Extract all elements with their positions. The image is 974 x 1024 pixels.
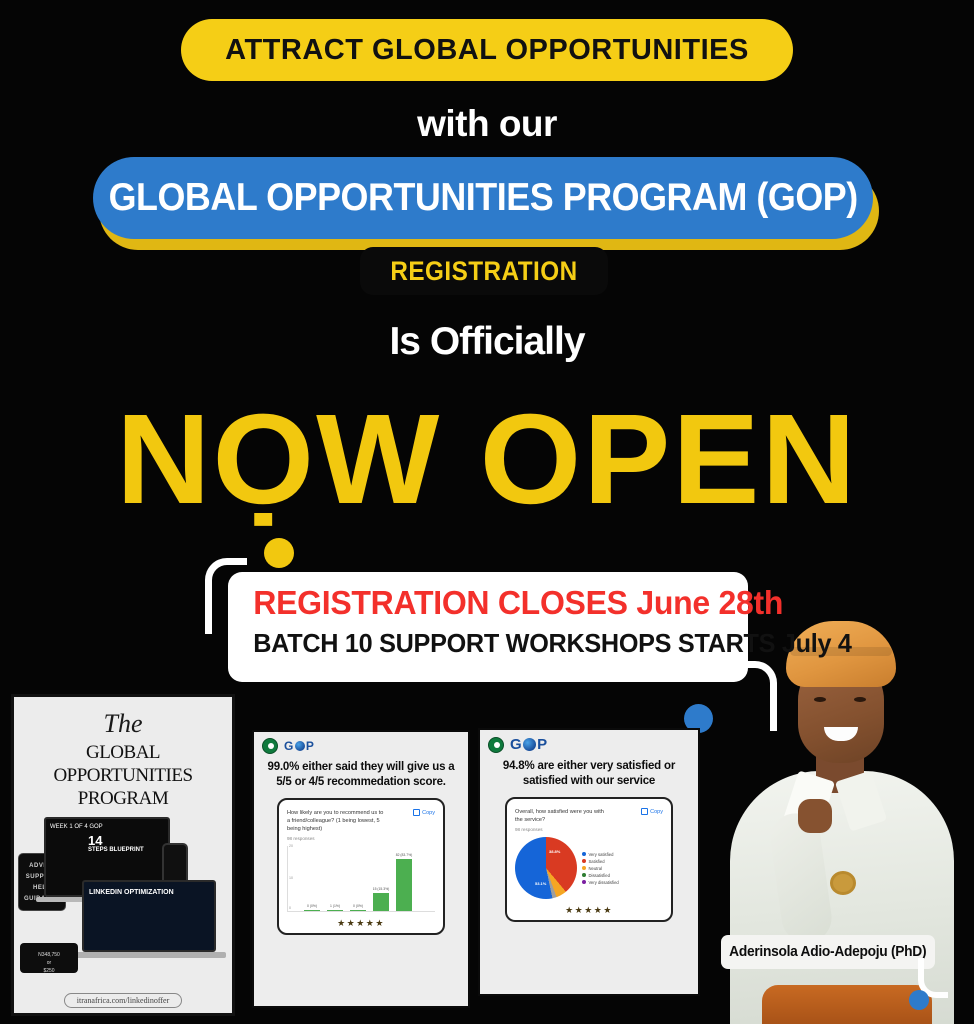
presenter-eye-right (854, 697, 866, 702)
bar-chart: 20 10 0 0 (0%) 1 (1%) 0 (0%) (287, 846, 435, 912)
testimonial-card-satisfaction: GP 94.8% are either very satisfied or sa… (478, 728, 700, 996)
globe-icon (295, 741, 305, 751)
headline-banner-attract: ATTRACT GLOBAL OPPORTUNITIES (181, 19, 793, 81)
subheadline-with-our: with our (0, 103, 974, 145)
bar-label-5: 82 (83.7%) (396, 853, 413, 857)
copy-icon (413, 809, 420, 816)
gop-logo-text: GP (284, 739, 314, 753)
bar-2: 1 (1%) (327, 910, 343, 911)
star-rating-left: ★★★★★ (285, 918, 437, 929)
presenter-name-badge: Aderinsola Adio-Adepoju (PhD) (721, 935, 935, 969)
legend-label-2: Neutral (589, 865, 603, 872)
survey-responses-left: 98 responses (287, 836, 435, 841)
bar-label-2: 1 (1%) (330, 904, 340, 908)
deadline-callout-box: REGISTRATION CLOSES June 28th BATCH 10 S… (228, 572, 748, 682)
ytick-2: 20 (289, 844, 293, 848)
laptop-badge: WEEK 1 OF 4 GOP (46, 819, 168, 835)
bar-chart-plot: 0 (0%) 1 (1%) 0 (0%) 15 (15.3%) 82 (83.7 (300, 846, 435, 911)
workshop-start-text: BATCH 10 SUPPORT WORKSHOPS STARTS July 4 (253, 628, 722, 659)
headline-banner-text: ATTRACT GLOBAL OPPORTUNITIES (225, 34, 749, 67)
testimonial-left-claim: 99.0% either said they will give us a 5/… (254, 754, 468, 790)
presenter-hand (798, 799, 832, 833)
is-officially-text: Is Officially (0, 320, 974, 364)
presenter-name-text: Aderinsola Adio-Adepoju (PhD) (729, 944, 926, 960)
copy-label-right: Copy (650, 809, 663, 815)
survey-responses-right: 98 responses (515, 827, 663, 832)
copy-button-right[interactable]: Copy (641, 808, 663, 815)
copy-label-left: Copy (422, 810, 435, 816)
bar-label-1: 0 (0%) (307, 904, 317, 908)
legend-swatch (582, 873, 586, 877)
legend-swatch (582, 852, 586, 856)
bar-1: 0 (0%) (304, 910, 320, 911)
price-new: $250 (20, 967, 78, 975)
linkedin-optimization-title: LINKEDIN OPTIMIZATION (84, 882, 214, 903)
bar-4: 15 (15.3%) (373, 893, 389, 911)
product-mockup-card: The GLOBAL OPPORTUNITIES PROGRAM ADVICE … (11, 694, 235, 1016)
product-card-the: The (14, 709, 232, 739)
bar-label-4: 15 (15.3%) (373, 887, 390, 891)
price-or: or (20, 959, 78, 967)
bar-3: 0 (0%) (350, 910, 366, 911)
price-tag: N348,750 or $250 (20, 943, 78, 973)
legend-item: Satisfied (582, 858, 619, 865)
promo-poster: ATTRACT GLOBAL OPPORTUNITIES with our GL… (0, 0, 974, 1024)
pie-chart-graphic: 38.8% 53.1% (515, 837, 577, 899)
legend-label-1: Satisfied (589, 858, 605, 865)
laptop-steps-label: STEPS BLUEPRINT (46, 847, 168, 858)
price-old: N348,750 (20, 951, 78, 959)
laptop-steps-number: 14 (46, 835, 168, 847)
gop-logo-text: GP (510, 736, 548, 753)
testimonial-card-recommendation: GP 99.0% either said they will give us a… (252, 730, 470, 1008)
presenter-eye-left (814, 697, 826, 702)
legend-item: Dissatisfied (582, 872, 619, 879)
legend-swatch (582, 880, 586, 884)
ytick-1: 10 (289, 876, 293, 880)
legend-item: Very dissatisfied (582, 879, 619, 886)
survey-question-right: Overall, how satisfied were you with the… (515, 808, 613, 824)
product-card-title: GLOBAL OPPORTUNITIES PROGRAM (14, 741, 232, 810)
bar-chart-yaxis: 20 10 0 (288, 846, 300, 911)
pie-chart: 38.8% 53.1% Very satisfied Satisfied (515, 837, 663, 899)
survey-screenshot-bar: How likely are you to recommend us to a … (277, 798, 445, 935)
registration-chip-text: REGISTRATION (390, 256, 577, 287)
legend-label-4: Very dissatisfied (589, 879, 619, 886)
program-title-text: GLOBAL OPPORTUNITIES PROGRAM (GOP) (108, 176, 857, 220)
itran-seal-icon (262, 738, 278, 754)
yellow-dot-marker (264, 538, 294, 568)
now-open-headline: NỌW OPEN (0, 396, 974, 524)
registration-chip: REGISTRATION (360, 247, 608, 295)
legend-item: Very satisfied (582, 851, 619, 858)
copy-icon (641, 808, 648, 815)
bar-label-3: 0 (0%) (353, 904, 363, 908)
registration-closes-text: REGISTRATION CLOSES June 28th (253, 584, 722, 622)
ytick-0: 0 (289, 906, 291, 910)
product-card-url-wrap: itranafrica.com/linkedinoffer (14, 996, 232, 1005)
legend-item: Neutral (582, 865, 619, 872)
product-card-url: itranafrica.com/linkedinoffer (64, 993, 182, 1008)
presenter-wristwatch (830, 871, 856, 895)
survey-question-left: How likely are you to recommend us to a … (287, 809, 385, 833)
blue-dot-marker-small (909, 990, 929, 1010)
testimonial-right-claim: 94.8% are either very satisfied or satis… (480, 753, 698, 789)
presenter-skirt (762, 985, 932, 1024)
testimonial-right-header: GP (480, 730, 698, 753)
star-rating-right: ★★★★★ (513, 905, 665, 916)
laptop-mockup-linkedin: LINKEDIN OPTIMIZATION (82, 880, 216, 952)
bar-5: 82 (83.7%) (396, 859, 412, 911)
product-device-stage: ADVICE SUPPORT HELP GUIDANCE WEEK 1 OF 4… (14, 805, 232, 983)
legend-label-0: Very satisfied (589, 851, 614, 858)
legend-swatch (582, 866, 586, 870)
itran-seal-icon (488, 737, 504, 753)
copy-button-left[interactable]: Copy (413, 809, 435, 816)
legend-label-3: Dissatisfied (589, 872, 610, 879)
testimonial-left-header: GP (254, 732, 468, 754)
pie-slice-label-very-satisfied: 53.1% (535, 881, 546, 886)
laptop-base-linkedin (72, 952, 226, 958)
program-title-banner: GLOBAL OPPORTUNITIES PROGRAM (GOP) (93, 157, 873, 239)
pie-chart-legend: Very satisfied Satisfied Neutral Di (582, 851, 619, 886)
pie-slice-label-satisfied: 38.8% (549, 849, 560, 854)
legend-swatch (582, 859, 586, 863)
globe-icon (523, 738, 536, 751)
survey-screenshot-pie: Overall, how satisfied were you with the… (505, 797, 673, 922)
